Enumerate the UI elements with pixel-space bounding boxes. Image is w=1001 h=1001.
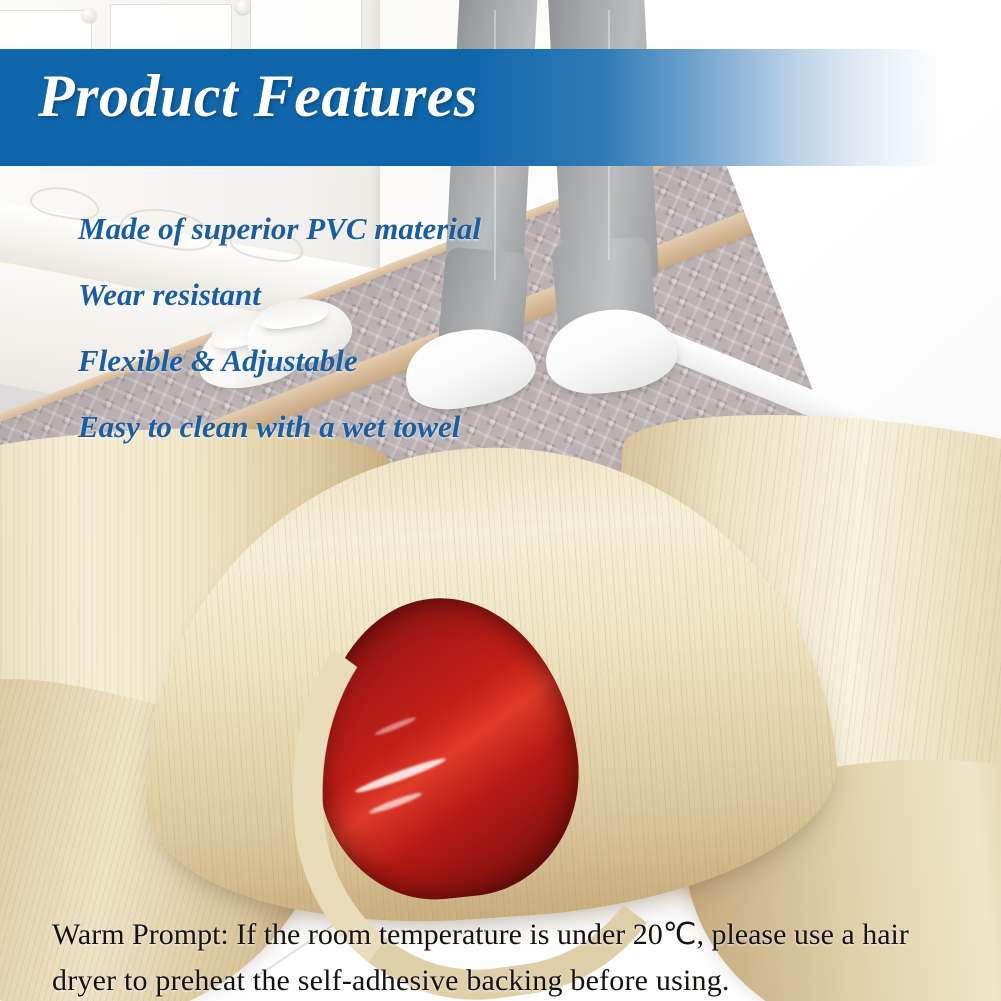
feature-item: Flexible & Adjustable [78,328,778,394]
warm-prompt: Warm Prompt: If the room temperature is … [52,912,962,1001]
pvc-strip-loop [140,448,830,918]
warm-prompt-line-2: dryer to preheat the self-adhesive backi… [52,958,962,1001]
product-feature-image: Product Features Made of superior PVC ma… [0,0,1001,1001]
warm-prompt-line-1: Warm Prompt: If the room temperature is … [52,912,962,958]
feature-item: Made of superior PVC material [78,196,778,262]
cabinet-knob [82,8,96,22]
page-title: Product Features [38,66,478,126]
feature-item: Easy to clean with a wet towel [78,394,778,460]
cabinet-knob [236,0,250,14]
feature-item: Wear resistant [78,262,778,328]
feature-list: Made of superior PVC material Wear resis… [78,196,778,460]
